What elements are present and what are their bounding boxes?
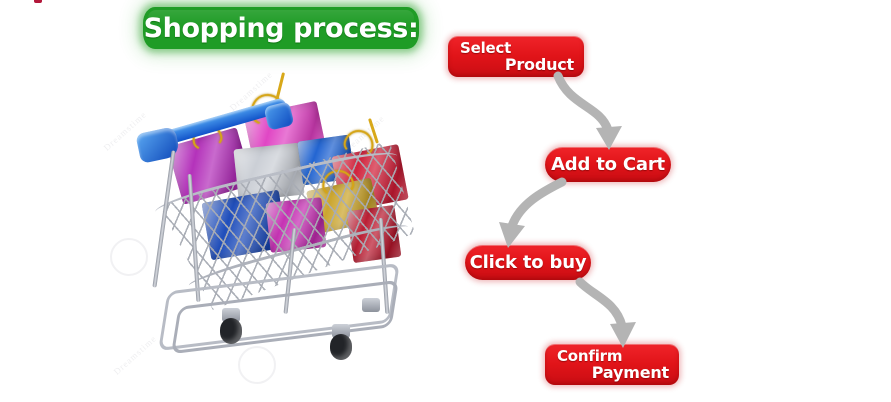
arrow-select-to-cart-icon (556, 72, 626, 152)
step-add-to-cart[interactable]: Add to Cart (545, 147, 671, 182)
page-title: Shopping process: (143, 7, 419, 49)
cart-wheel (220, 318, 242, 344)
cart-wheel (330, 334, 352, 360)
watermark-ring (238, 346, 276, 384)
page-title-banner: Shopping process: (143, 7, 419, 49)
watermark-text: Dreamstime (112, 333, 159, 377)
arrow-cart-to-buy-icon (486, 180, 566, 250)
watermark-ring (110, 238, 148, 276)
step-click-to-buy[interactable]: Click to buy (465, 245, 591, 280)
step-label-line-2: Payment (592, 363, 669, 382)
step-confirm-payment[interactable]: Confirm Payment (545, 344, 679, 385)
shopping-process-banner: Shopping process: Dreamstime Dreamstime … (0, 0, 891, 402)
top-edge-red-fragment (34, 0, 42, 3)
shopping-cart-with-gifts-photo: Dreamstime Dreamstime Dreamstime Dreamst… (100, 78, 440, 400)
cart-wheel-mount (362, 298, 380, 312)
step-label: Add to Cart (545, 147, 671, 182)
step-select-product[interactable]: Select Product (448, 36, 584, 77)
step-label-line-1: Select (460, 39, 511, 57)
step-label: Click to buy (465, 245, 591, 280)
arrow-buy-to-confirm-icon (578, 278, 648, 350)
